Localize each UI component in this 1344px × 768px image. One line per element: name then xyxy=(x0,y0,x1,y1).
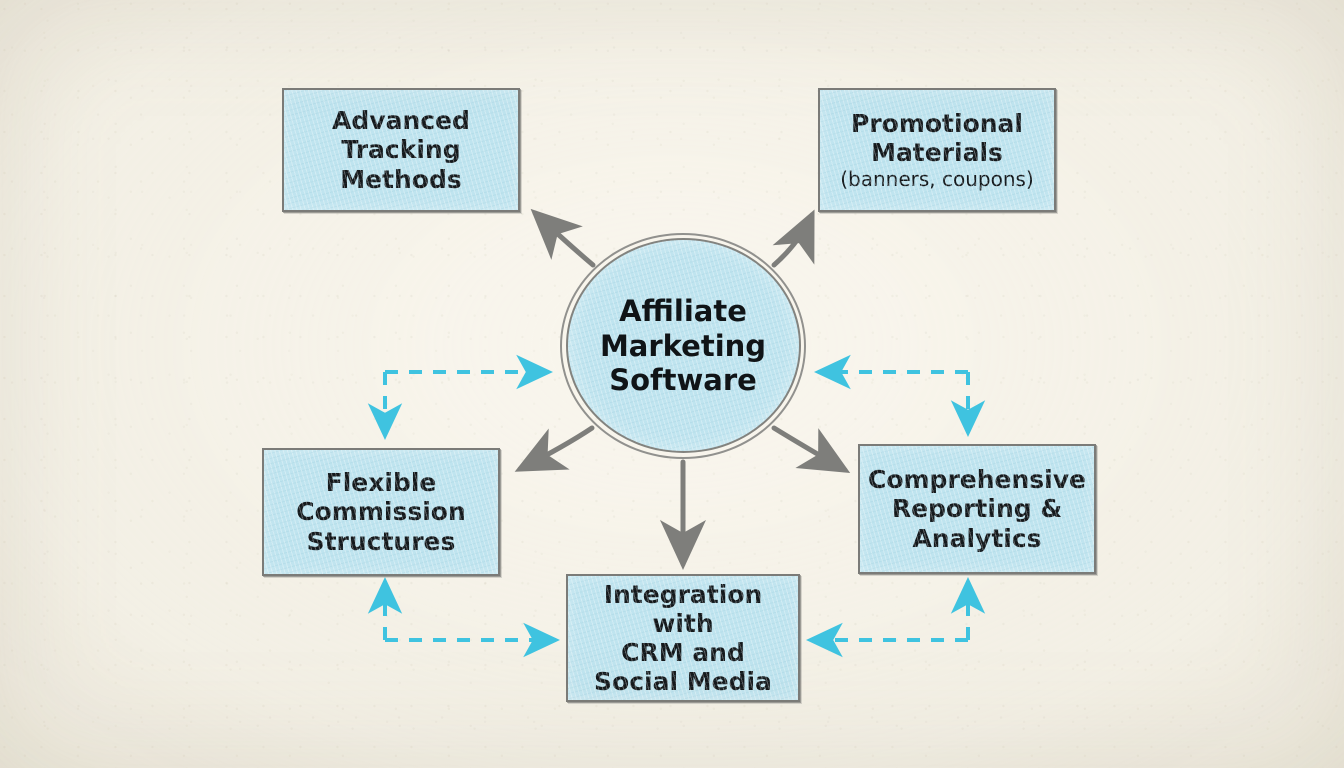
node-line: Promotional xyxy=(826,109,1048,138)
node-line: Commission xyxy=(270,497,492,526)
node-line: Integration with xyxy=(574,580,792,639)
node-line: Tracking xyxy=(290,135,512,164)
node-integration-crm[interactable]: Integration with CRM and Social Media xyxy=(566,574,800,702)
node-promotional-materials[interactable]: Promotional Materials (banners, coupons) xyxy=(818,88,1056,212)
node-line: Reporting & xyxy=(866,494,1088,523)
node-comprehensive-reporting[interactable]: Comprehensive Reporting & Analytics xyxy=(858,444,1096,574)
node-comprehensive-reporting-label: Comprehensive Reporting & Analytics xyxy=(860,465,1094,553)
node-line: Materials xyxy=(826,138,1048,167)
node-line: CRM and xyxy=(574,638,792,667)
node-integration-crm-label: Integration with CRM and Social Media xyxy=(568,580,798,697)
node-line: Methods xyxy=(290,165,512,194)
node-promotional-materials-label: Promotional Materials (banners, coupons) xyxy=(820,109,1054,191)
node-advanced-tracking-label: Advanced Tracking Methods xyxy=(284,106,518,194)
hub-line: Marketing xyxy=(600,329,766,364)
node-flexible-commission-label: Flexible Commission Structures xyxy=(264,468,498,556)
node-line: Analytics xyxy=(866,524,1088,553)
hub-line: Software xyxy=(600,363,766,398)
node-line: Comprehensive xyxy=(866,465,1088,494)
node-affiliate-marketing-software[interactable]: Affiliate Marketing Software xyxy=(560,233,806,459)
node-line: Social Media xyxy=(574,667,792,696)
diagram-canvas: Advanced Tracking Methods Promotional Ma… xyxy=(0,0,1344,768)
hub-label: Affiliate Marketing Software xyxy=(560,233,806,459)
node-flexible-commission[interactable]: Flexible Commission Structures xyxy=(262,448,500,576)
node-line: Advanced xyxy=(290,106,512,135)
node-line: Flexible xyxy=(270,468,492,497)
hub-line: Affiliate xyxy=(600,294,766,329)
node-sublabel: (banners, coupons) xyxy=(826,168,1048,191)
node-advanced-tracking[interactable]: Advanced Tracking Methods xyxy=(282,88,520,212)
node-line: Structures xyxy=(270,527,492,556)
